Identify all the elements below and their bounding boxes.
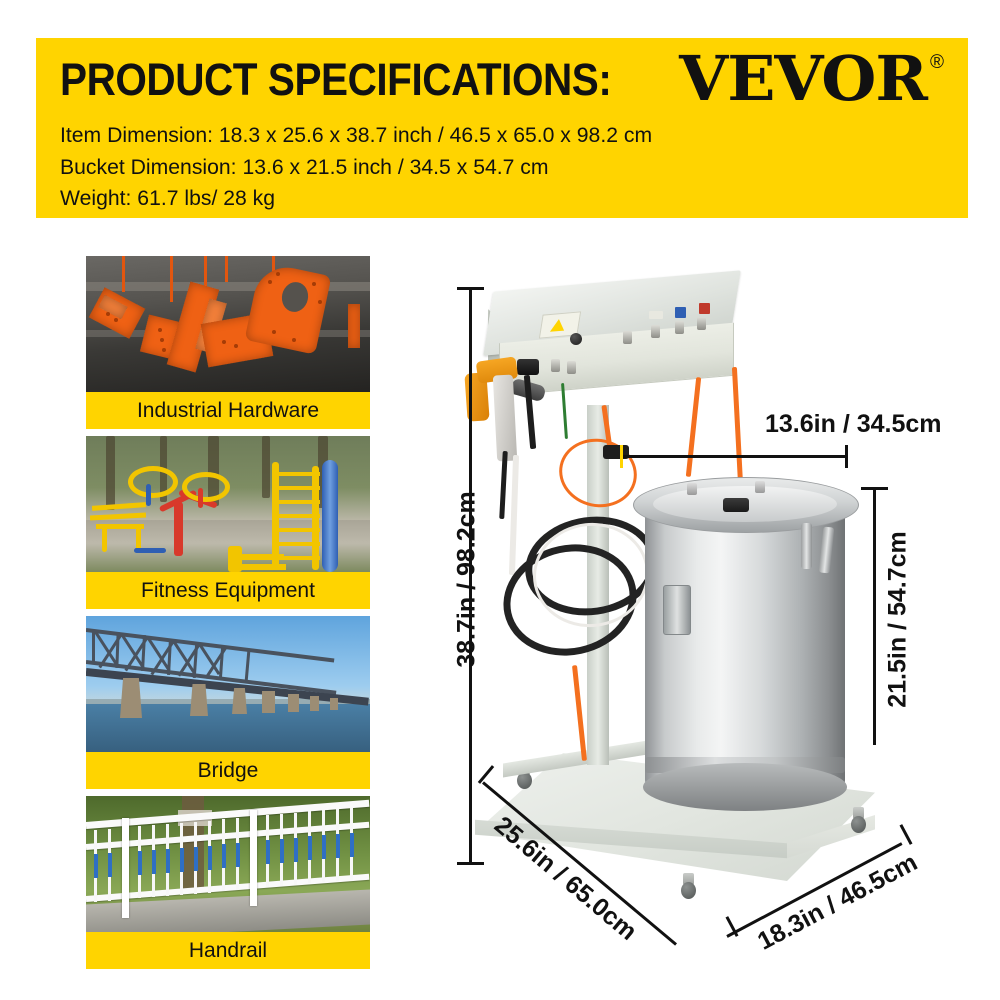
- registered-trademark-icon: ®: [930, 52, 944, 74]
- spec-bucket-dimension: Bucket Dimension: 13.6 x 21.5 inch / 34.…: [60, 152, 927, 184]
- specification-list: Item Dimension: 18.3 x 25.6 x 38.7 inch …: [60, 120, 940, 215]
- fluid-adjust-knob[interactable]: [570, 333, 582, 345]
- application-card-fitness-equipment: Fitness Equipment: [86, 436, 370, 609]
- bucket-lid-clamp[interactable]: [801, 523, 812, 569]
- bucket-inlet-nozzle: [687, 483, 697, 495]
- red-indicator-icon: [699, 303, 710, 314]
- handrail-photo: [86, 796, 370, 932]
- power-socket[interactable]: [517, 359, 539, 375]
- orange-air-hose-loop: [553, 432, 643, 515]
- application-label: Fitness Equipment: [86, 572, 370, 609]
- spec-weight: Weight: 61.7 lbs/ 28 kg: [60, 183, 927, 215]
- banner-title-row: PRODUCT SPECIFICATIONS: VEVOR ®: [60, 52, 950, 114]
- page-title: PRODUCT SPECIFICATIONS:: [60, 54, 611, 106]
- dimension-label-overall-height: 38.7in / 98.2cm: [453, 450, 482, 710]
- bridge-photo: [86, 616, 370, 752]
- ground-connector[interactable]: [551, 359, 560, 372]
- spec-item-dimension: Item Dimension: 18.3 x 25.6 x 38.7 inch …: [60, 120, 927, 152]
- gun-powder-tube: [509, 455, 519, 575]
- specifications-banner: PRODUCT SPECIFICATIONS: VEVOR ® Item Dim…: [36, 38, 968, 218]
- dimension-cap-top: [457, 287, 484, 290]
- product-photo-with-dimensions: 38.7in / 98.2cm 13.6in / 34.5cm 21.5in /…: [455, 255, 975, 955]
- application-label: Handrail: [86, 932, 370, 969]
- swivel-caster: [681, 873, 696, 899]
- fitness-equipment-photo: [86, 436, 370, 572]
- dimension-label-bucket-height: 21.5in / 54.7cm: [884, 490, 913, 750]
- dimension-line-vertical: [873, 487, 876, 745]
- blue-indicator-icon: [675, 307, 686, 318]
- swivel-caster: [851, 807, 866, 833]
- orange-air-hose-to-bucket: [686, 377, 701, 477]
- air-connector[interactable]: [567, 361, 576, 374]
- air-in-connector[interactable]: [623, 331, 632, 344]
- orange-air-hose-right: [732, 367, 743, 485]
- dimension-label-bucket-diameter: 13.6in / 34.5cm: [765, 410, 942, 439]
- ground-wire: [561, 383, 568, 439]
- bucket-base: [643, 763, 847, 811]
- air-out-connector[interactable]: [651, 325, 660, 338]
- bucket-side-handle[interactable]: [663, 585, 691, 635]
- dimension-cap-right: [845, 445, 848, 468]
- bucket-fluidizing-valve[interactable]: [723, 498, 749, 512]
- application-label: Bridge: [86, 752, 370, 789]
- dimension-cap-bottom: [457, 862, 484, 865]
- hose-connector[interactable]: [675, 321, 684, 334]
- vevor-logo: VEVOR ®: [684, 48, 944, 110]
- brand-name: VEVOR: [679, 48, 927, 110]
- dimension-cap-left: [620, 445, 623, 468]
- application-card-industrial-hardware: Industrial Hardware: [86, 256, 370, 429]
- application-label: Industrial Hardware: [86, 392, 370, 429]
- dimension-line-horizontal: [620, 455, 848, 458]
- bucket-outlet-nozzle: [755, 481, 765, 493]
- orange-hose-lower: [572, 665, 587, 761]
- application-card-handrail: Handrail: [86, 796, 370, 969]
- application-thumbnail-list: Industrial Hardware: [86, 256, 370, 976]
- panel-decal: [649, 311, 663, 319]
- industrial-hardware-photo: [86, 256, 370, 392]
- gun-connector[interactable]: [697, 317, 706, 330]
- application-card-bridge: Bridge: [86, 616, 370, 789]
- powder-hopper-bucket: [645, 495, 845, 790]
